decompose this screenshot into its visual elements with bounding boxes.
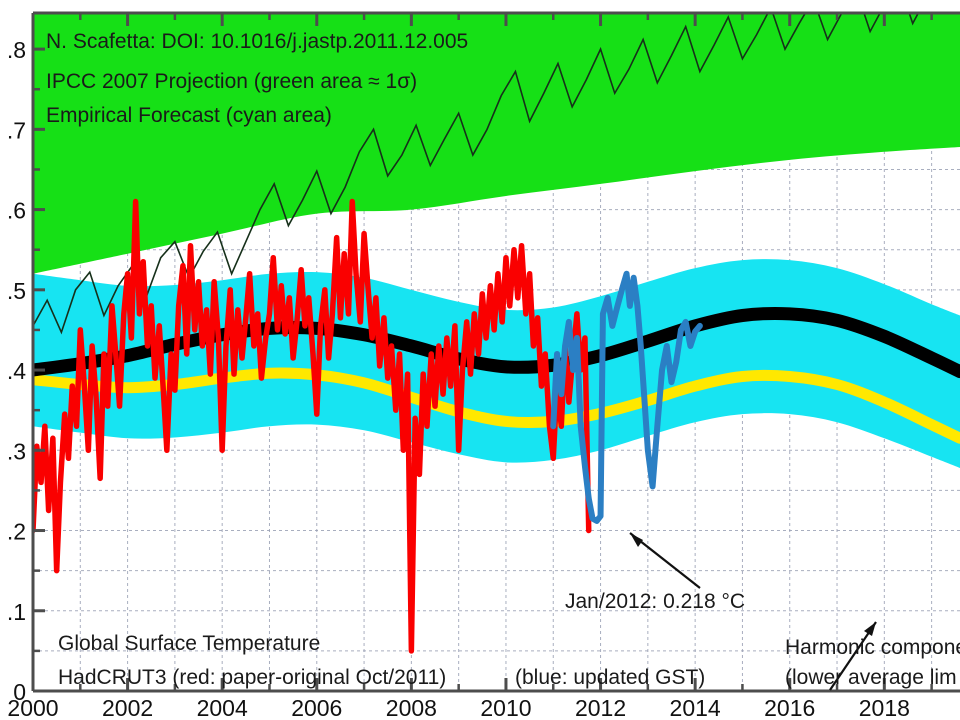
y-tick-label: .6 — [7, 198, 26, 224]
x-tick-label: 2014 — [670, 695, 721, 720]
annotation-jan2012: Jan/2012: 0.218 °C — [565, 590, 745, 613]
x-tick-label: 2016 — [764, 695, 815, 720]
y-tick-label: .1 — [7, 599, 26, 625]
legend-line-doi: N. Scafetta: DOI: 10.1016/j.jastp.2011.1… — [46, 30, 468, 53]
chart-figure: .8.7.6.5.4.3.2.10 2000200220042006200820… — [0, 0, 960, 720]
temperature-chart-svg: .8.7.6.5.4.3.2.10 2000200220042006200820… — [0, 0, 960, 720]
label-hadcrut3-red: HadCRUT3 (red: paper-original Oct/2011) — [58, 666, 446, 689]
annotation-harmonic-line2: (lower average lim — [785, 666, 957, 689]
annotation-harmonic-line1: Harmonic compone — [785, 636, 960, 659]
x-tick-label: 2010 — [480, 695, 531, 720]
label-global-surface-temperature: Global Surface Temperature — [58, 632, 320, 655]
y-axis-tick-labels: .8.7.6.5.4.3.2.10 — [7, 37, 26, 705]
y-tick-label: .3 — [7, 438, 26, 464]
y-tick-label: .7 — [7, 117, 26, 143]
y-tick-label: .5 — [7, 278, 26, 304]
x-tick-label: 2002 — [102, 695, 153, 720]
x-tick-label: 2012 — [575, 695, 626, 720]
x-tick-label: 2006 — [291, 695, 342, 720]
legend-line-ipcc: IPCC 2007 Projection (green area ≈ 1σ) — [46, 70, 417, 93]
x-tick-label: 2004 — [197, 695, 248, 720]
y-tick-label: .4 — [7, 358, 26, 384]
y-tick-label: .8 — [7, 37, 26, 63]
legend-line-forecast: Empirical Forecast (cyan area) — [46, 104, 332, 127]
y-tick-label: .2 — [7, 519, 26, 545]
x-tick-label: 2000 — [7, 695, 58, 720]
label-blue-updated-gst: (blue: updated GST) — [515, 666, 705, 689]
x-tick-label: 2018 — [859, 695, 910, 720]
x-tick-label: 2008 — [386, 695, 437, 720]
